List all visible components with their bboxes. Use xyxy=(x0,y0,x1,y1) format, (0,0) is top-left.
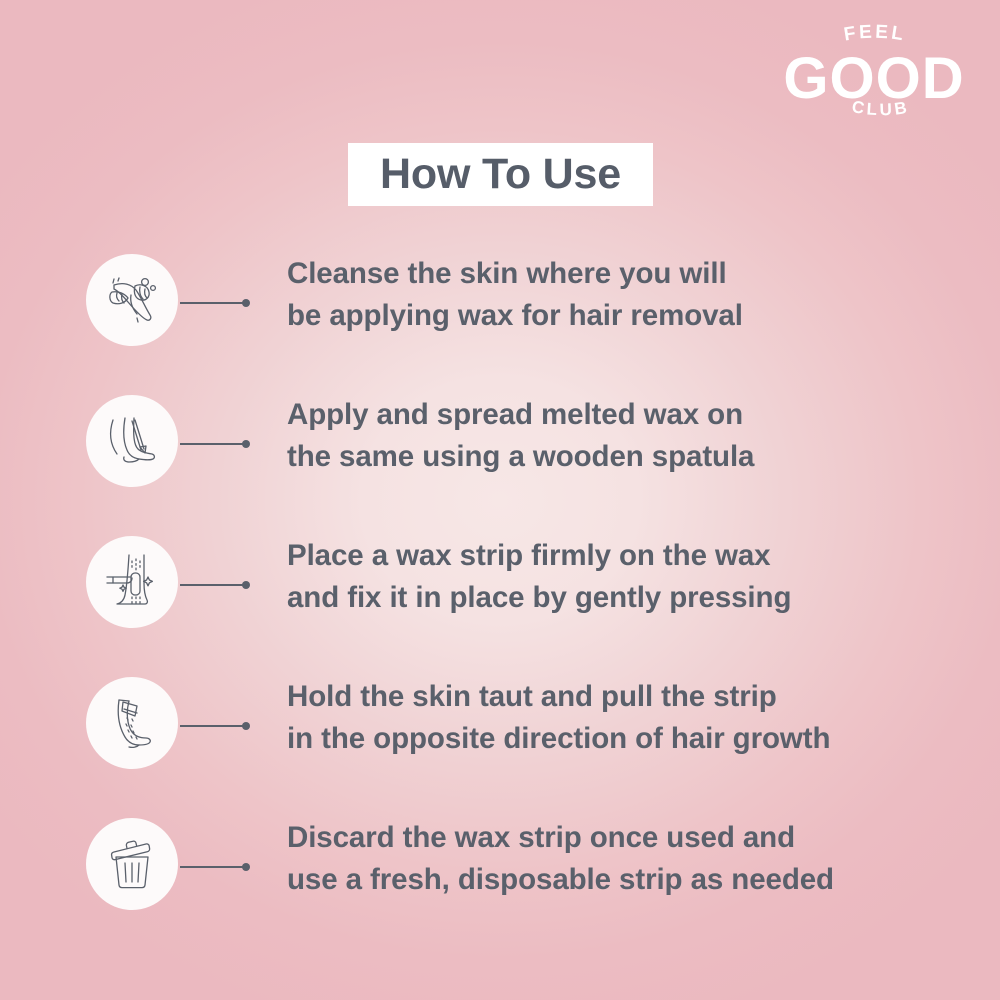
leg-wax-spatula-icon xyxy=(86,395,178,487)
step-text: Place a wax strip firmly on the wax and … xyxy=(287,535,947,619)
leg-wax-strip-press-icon xyxy=(86,536,178,628)
list-item: Place a wax strip firmly on the wax and … xyxy=(0,529,1000,670)
step-line-1: Discard the wax strip once used and xyxy=(287,817,947,859)
step-text: Apply and spread melted wax on the same … xyxy=(287,394,947,478)
step-text: Hold the skin taut and pull the strip in… xyxy=(287,676,947,760)
title-banner: How To Use xyxy=(348,143,653,206)
step-text: Discard the wax strip once used and use … xyxy=(287,817,947,901)
logo-feel-text: FEEL xyxy=(842,22,907,46)
connector-line xyxy=(180,440,252,448)
step-line-2: in the opposite direction of hair growth xyxy=(287,718,947,760)
step-line-1: Cleanse the skin where you will xyxy=(287,253,947,295)
list-item: Cleanse the skin where you will be apply… xyxy=(0,247,1000,388)
logo-club-text: CLUB xyxy=(850,97,910,119)
connector-line xyxy=(180,581,252,589)
how-to-use-poster: FEEL GOOD CLUB How To Use xyxy=(0,0,1000,1000)
connector-line xyxy=(180,863,252,871)
feel-good-club-logo: FEEL GOOD CLUB xyxy=(768,22,980,134)
step-line-1: Apply and spread melted wax on xyxy=(287,394,947,436)
list-item: Apply and spread melted wax on the same … xyxy=(0,388,1000,529)
step-text: Cleanse the skin where you will be apply… xyxy=(287,253,947,337)
step-line-2: the same using a wooden spatula xyxy=(287,436,947,478)
connector-line xyxy=(180,722,252,730)
page-title: How To Use xyxy=(380,153,621,196)
step-line-1: Place a wax strip firmly on the wax xyxy=(287,535,947,577)
step-line-2: use a fresh, disposable strip as needed xyxy=(287,859,947,901)
step-line-2: be applying wax for hair removal xyxy=(287,295,947,337)
step-line-2: and fix it in place by gently pressing xyxy=(287,577,947,619)
steps-list: Cleanse the skin where you will be apply… xyxy=(0,247,1000,952)
leg-cleanse-foam-icon xyxy=(86,254,178,346)
list-item: Hold the skin taut and pull the strip in… xyxy=(0,670,1000,811)
leg-strip-pull-icon xyxy=(86,677,178,769)
trash-bin-icon xyxy=(86,818,178,910)
connector-line xyxy=(180,299,252,307)
step-line-1: Hold the skin taut and pull the strip xyxy=(287,676,947,718)
list-item: Discard the wax strip once used and use … xyxy=(0,811,1000,952)
